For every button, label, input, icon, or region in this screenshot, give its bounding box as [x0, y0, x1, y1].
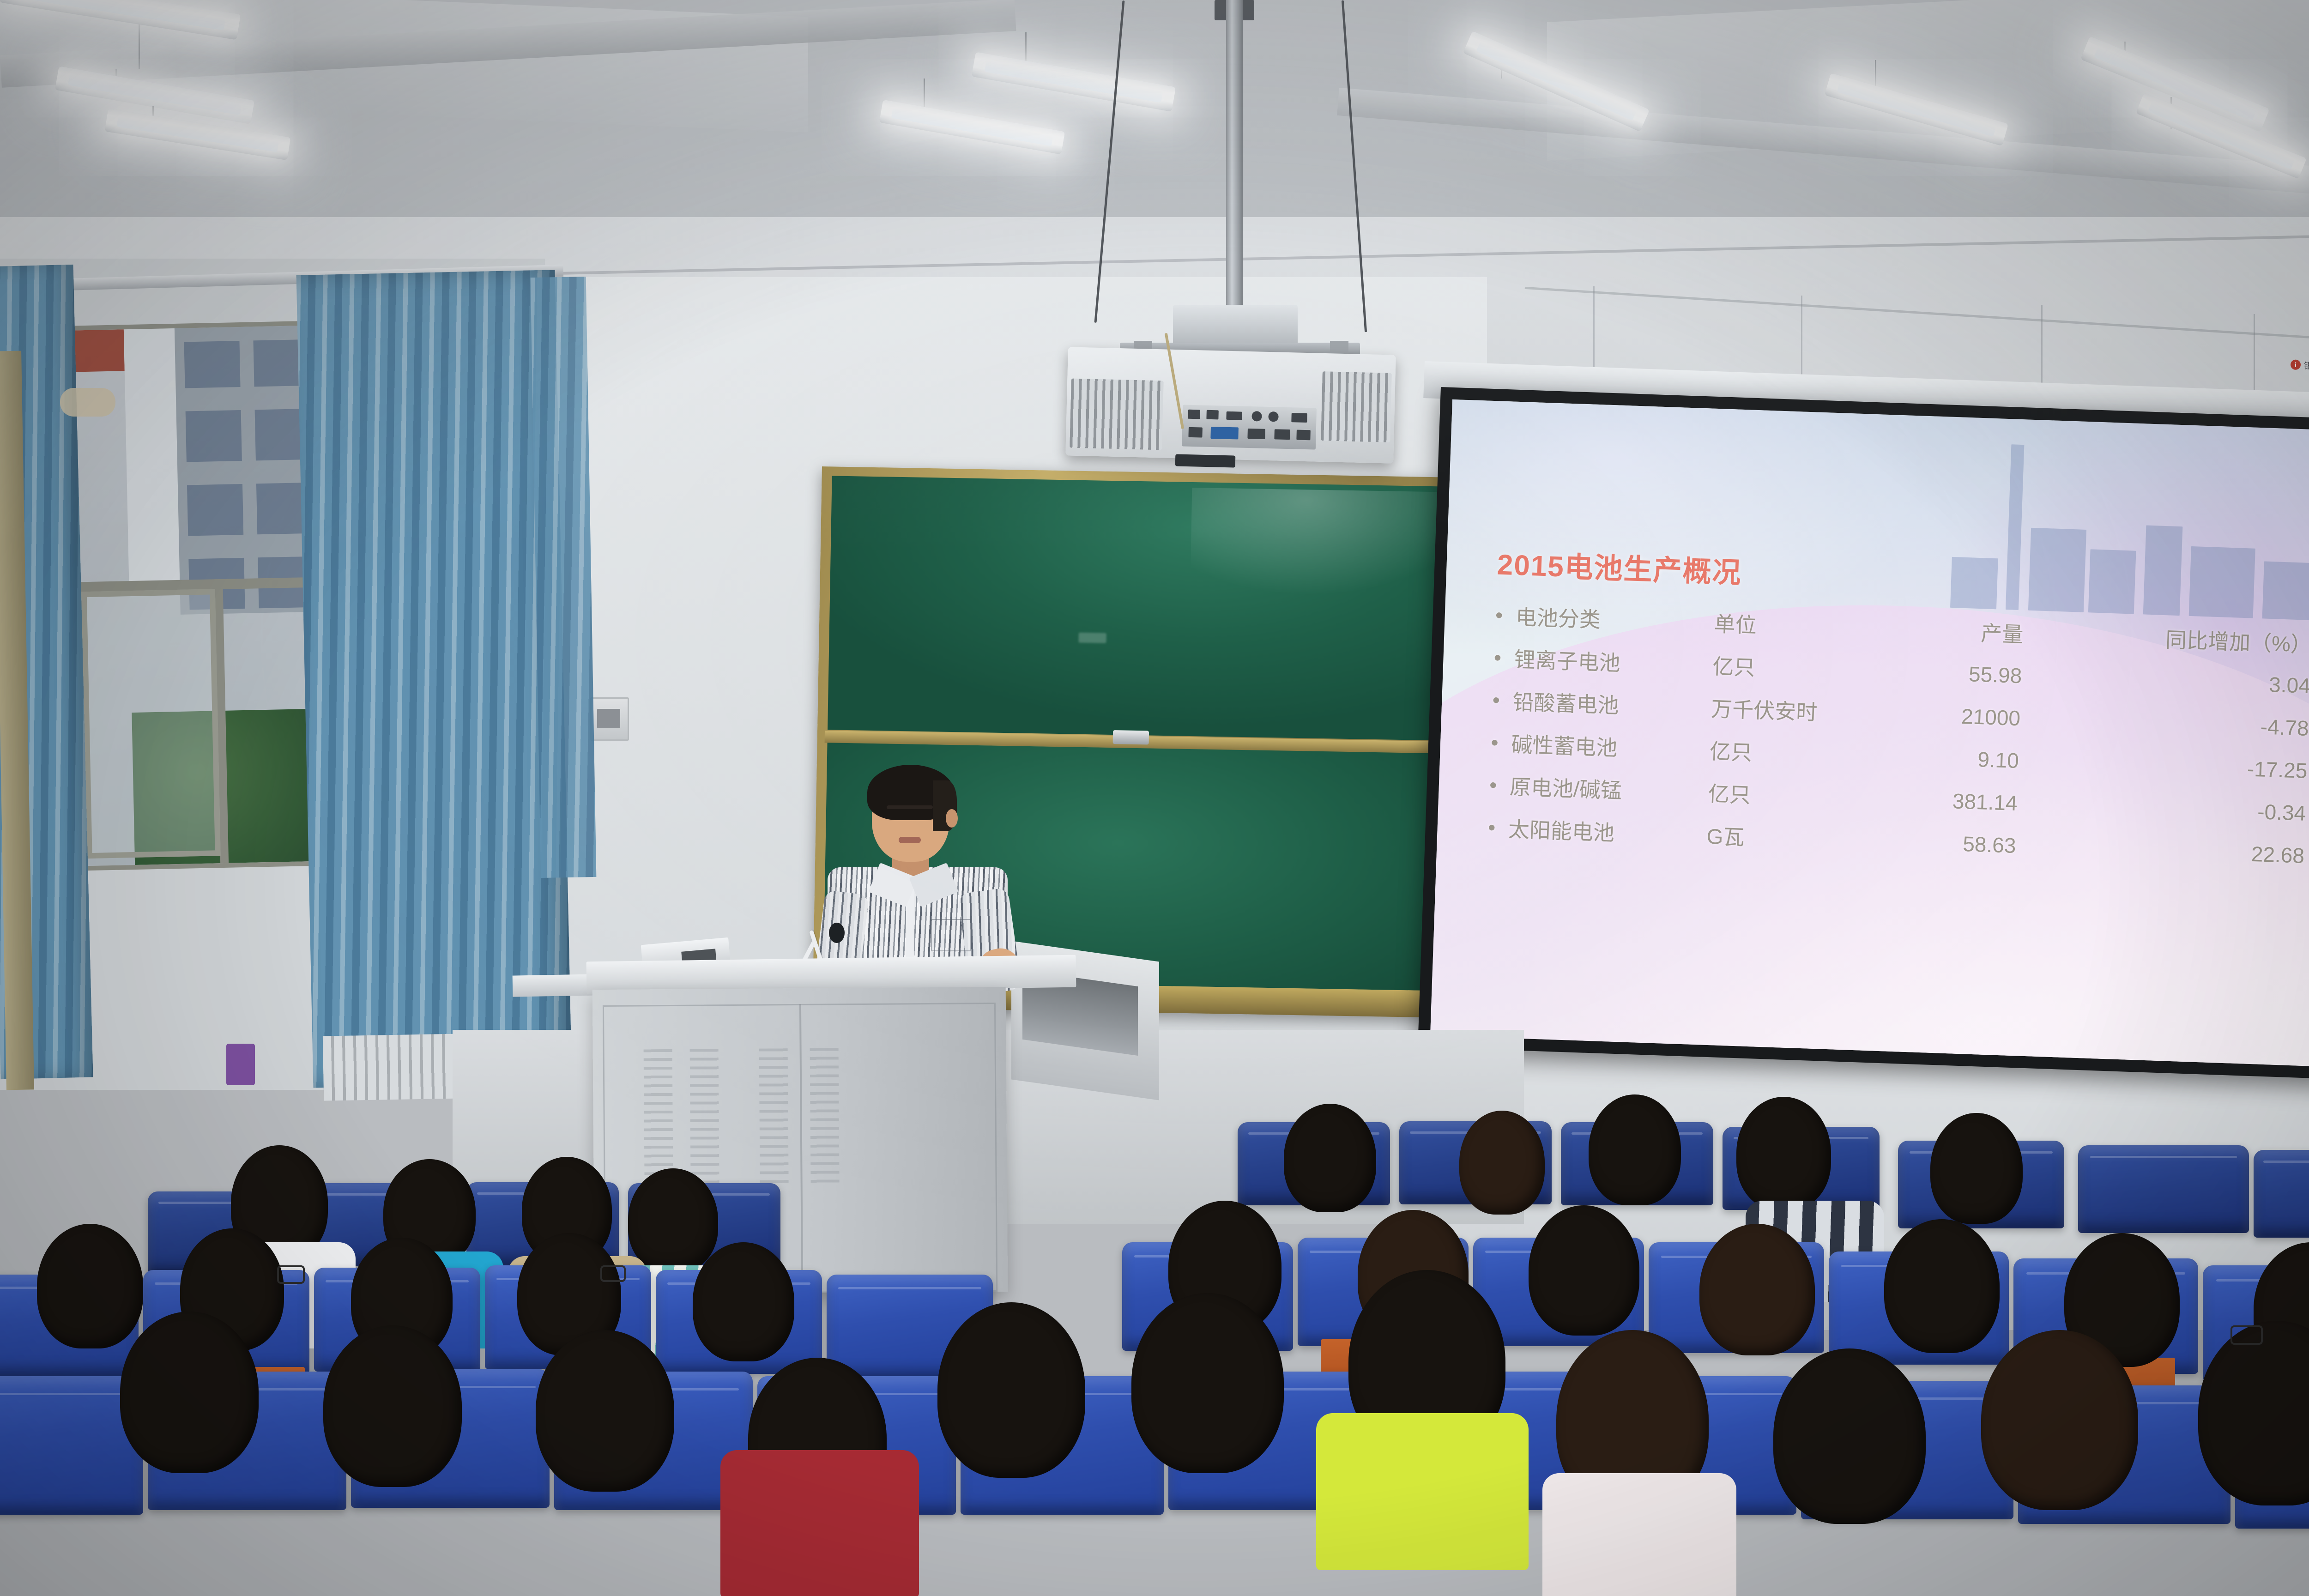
student-head [1930, 1113, 2023, 1224]
projector-port [1206, 410, 1218, 420]
cell-category: 铅酸蓄电池 [1512, 679, 1712, 729]
projector-port [1296, 430, 1311, 441]
window-sash[interactable] [81, 589, 221, 858]
presenter [817, 767, 1021, 988]
outside-building-wall [124, 328, 180, 588]
projector-port [1268, 411, 1279, 422]
projector-port [1188, 427, 1203, 438]
outside-red-roof [68, 329, 125, 372]
student-head [628, 1168, 718, 1272]
bullet-icon: • [1490, 721, 1512, 764]
cell-unit: 万千伏安时 [1711, 686, 1892, 735]
student-head [1459, 1111, 1545, 1215]
eyeglasses [277, 1265, 305, 1284]
student-head [1589, 1094, 1681, 1205]
blackboard-panel-upper [828, 476, 1467, 741]
microphone-capsule [829, 923, 845, 943]
eyeglasses [2230, 1325, 2263, 1345]
seat[interactable] [2078, 1145, 2249, 1233]
wall-outlet-panel[interactable] [590, 697, 629, 741]
cell-category: 碱性蓄电池 [1511, 722, 1711, 771]
projector-port [1226, 411, 1242, 420]
curtain-right[interactable] [296, 270, 572, 1088]
cell-yoy: 22.68 [2071, 826, 2309, 878]
eyeglasses [600, 1265, 626, 1282]
projector-port [1247, 429, 1265, 439]
projector-port-panel [1182, 405, 1317, 449]
projector-vent-grille-right [1321, 371, 1392, 442]
student-head [37, 1224, 143, 1348]
outside-window [184, 341, 240, 388]
student-head [1699, 1224, 1815, 1355]
projector-mount-pole [1226, 0, 1243, 314]
student-head [323, 1325, 462, 1487]
student-head [937, 1302, 1085, 1478]
student-head [1884, 1219, 2000, 1353]
header-unit: 单位 [1713, 601, 1895, 650]
student-head [693, 1242, 794, 1361]
cell-output: 21000 [1891, 693, 2077, 742]
header-category: 电池分类 [1515, 594, 1715, 644]
student-shirt [1542, 1473, 1736, 1596]
outside-window [187, 484, 243, 536]
outlet-socket [597, 709, 620, 728]
presenter-mouth [899, 837, 921, 843]
presenter-eyes [887, 805, 933, 809]
projector-lens [1175, 454, 1236, 467]
projector-port [1291, 413, 1307, 423]
bullet-icon: • [1493, 636, 1515, 679]
student-head [120, 1312, 259, 1473]
student-head [1981, 1330, 2138, 1510]
cell-output: 55.98 [1892, 650, 2078, 699]
cell-output: 9.10 [1889, 735, 2075, 784]
projector-port [1274, 429, 1290, 440]
curtain-tieback[interactable] [60, 388, 115, 417]
projection-screen-surface: 2015电池生产概况 • 电池分类 单位 产量 同比增加（%） • 锂离子电池 … [1430, 399, 2309, 1068]
lecture-hall-photo: i 银幕 投影幕 2015电池生产概况 • 电池分类 单位 产量 [0, 0, 2309, 1596]
bullet-icon: • [1495, 594, 1517, 637]
student-head [1284, 1104, 1376, 1212]
audience-seating [0, 1007, 2309, 1596]
blackboard-slide-handle[interactable] [1113, 730, 1149, 744]
presenter-shirt-pocket [931, 919, 971, 951]
brand-mark-icon: i [2291, 359, 2301, 370]
student-head [1773, 1348, 1926, 1524]
cell-category: 原电池/碱锰 [1509, 764, 1709, 814]
cell-output: 58.63 [1886, 820, 2072, 869]
bullet-icon: • [1487, 806, 1509, 849]
cell-unit: 亿只 [1707, 771, 1889, 820]
student-shirt [720, 1450, 919, 1596]
projection-screen-frame: 2015电池生产概况 • 电池分类 单位 产量 同比增加（%） • 锂离子电池 … [1418, 387, 2309, 1080]
student-head [1529, 1205, 1639, 1336]
student-head [1736, 1097, 1831, 1210]
cell-unit: 亿只 [1709, 729, 1891, 778]
bullet-icon: • [1492, 678, 1513, 721]
slide-data-table: • 电池分类 单位 产量 同比增加（%） • 锂离子电池 亿只 55.98 3.… [1487, 594, 2309, 878]
cell-output: 381.14 [1887, 778, 2073, 827]
cell-unit: 亿只 [1712, 644, 1893, 693]
student-head [1131, 1293, 1284, 1473]
bullet-icon: • [1489, 763, 1511, 806]
header-output: 产量 [1893, 608, 2079, 657]
cell-category: 锂离子电池 [1513, 637, 1713, 686]
presenter-ear [946, 809, 958, 828]
projector-port [1251, 411, 1262, 422]
cell-category: 太阳能电池 [1507, 807, 1707, 856]
projector-vent-grille-left [1070, 379, 1164, 450]
projector-port [1188, 410, 1200, 419]
student-shirt [1316, 1413, 1529, 1570]
cell-unit: G瓦 [1706, 814, 1887, 863]
projector-port [1210, 427, 1239, 439]
curtain-far[interactable] [531, 277, 597, 878]
seat[interactable] [2254, 1150, 2309, 1238]
chalk-smudge [1078, 633, 1106, 643]
brand-text: 银幕 投影幕 [2304, 359, 2309, 373]
outside-window [186, 410, 242, 462]
slide-content: 2015电池生产概况 • 电池分类 单位 产量 同比增加（%） • 锂离子电池 … [1482, 541, 2309, 1028]
student-head [536, 1330, 674, 1492]
